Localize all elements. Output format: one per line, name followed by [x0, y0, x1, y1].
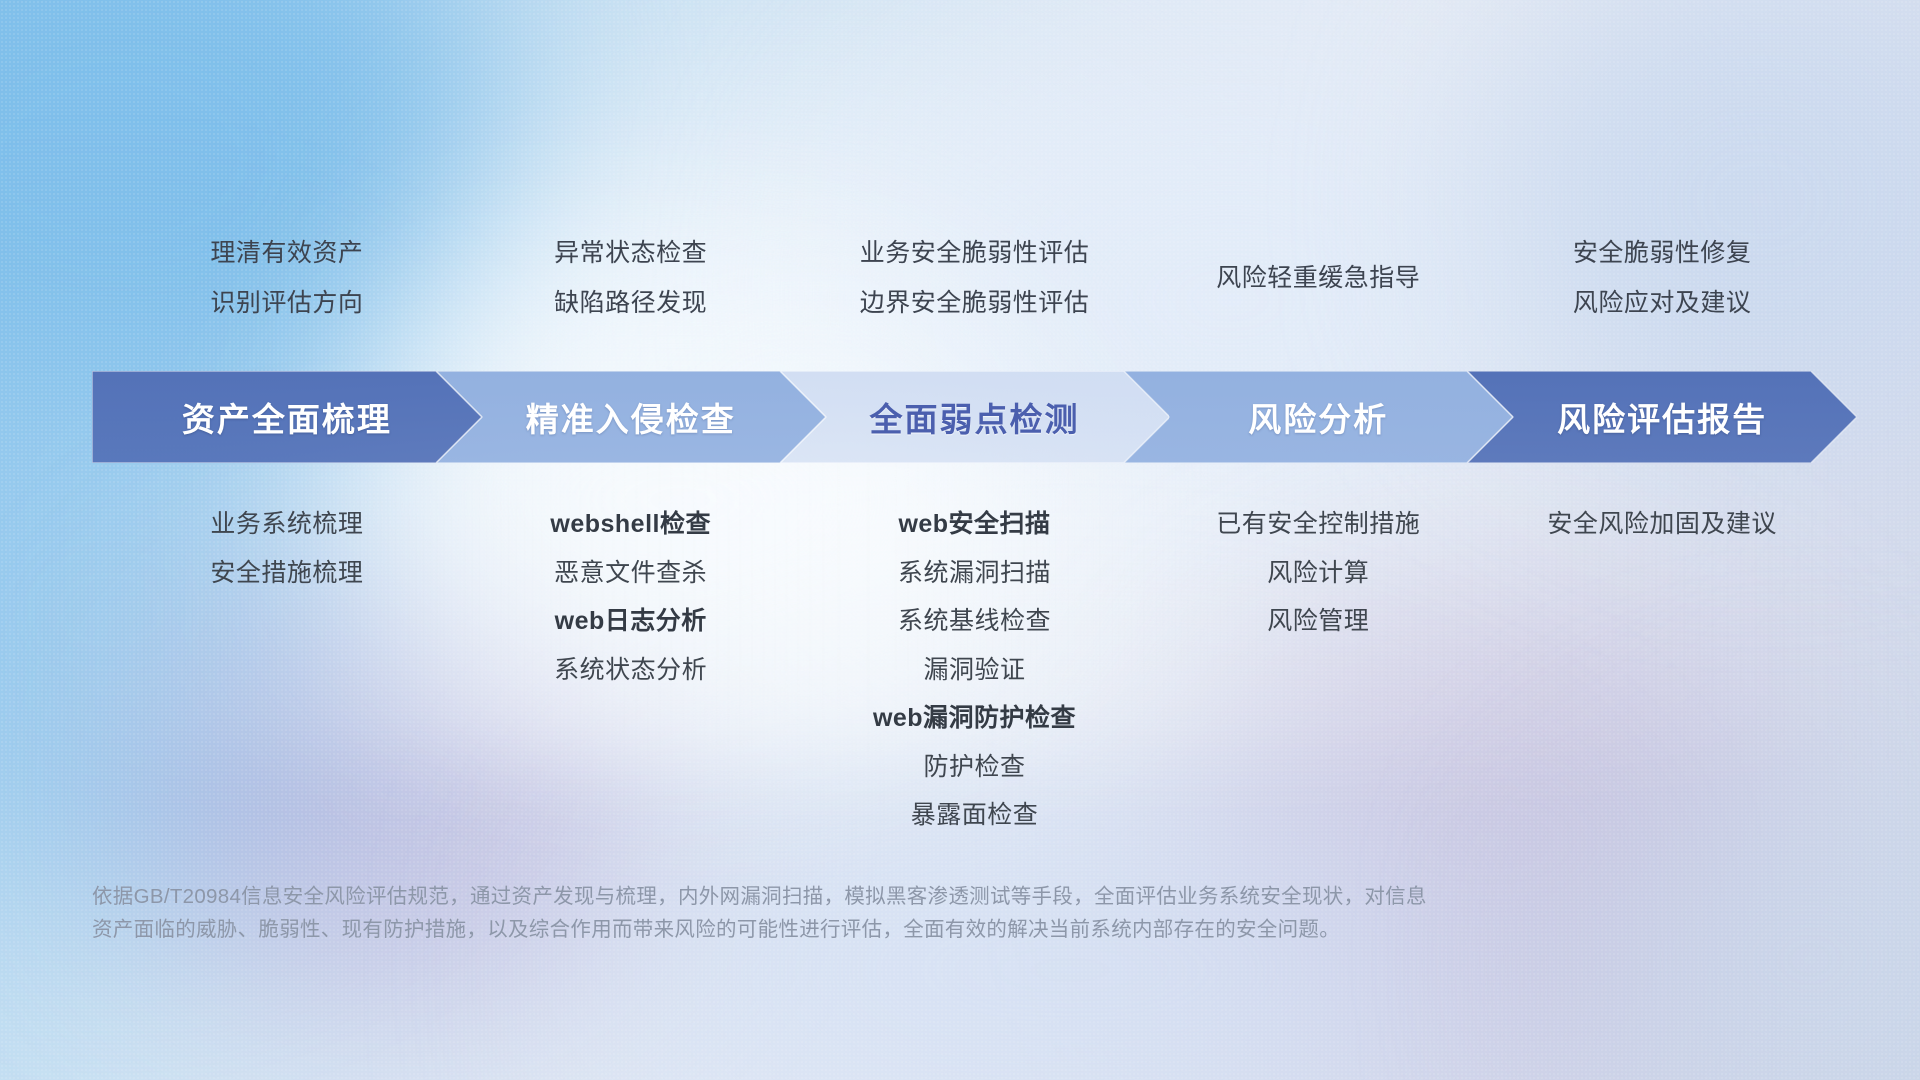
chevron-stage-risk-report[interactable]: 风险评估报告: [1467, 371, 1857, 463]
top-caption: 安全脆弱性修复: [1432, 228, 1892, 278]
chevron-label-asset-inventory: 资产全面梳理: [182, 393, 392, 441]
process-diagram: 理清有效资产识别评估方向异常状态检查缺陷路径发现业务安全脆弱性评估边界安全脆弱性…: [0, 0, 1920, 1080]
bottom-item: 风险管理: [1088, 597, 1548, 646]
chevron-stage-risk-analysis[interactable]: 风险分析: [1123, 371, 1513, 463]
process-chevron-bar: 资产全面梳理精准入侵检查全面弱点检测风险分析风险评估报告: [92, 371, 1857, 463]
top-captions-row: 理清有效资产识别评估方向异常状态检查缺陷路径发现业务安全脆弱性评估边界安全脆弱性…: [0, 228, 1920, 338]
footer-line-2: 资产面临的威胁、脆弱性、现有防护措施，以及综合作用而带来风险的可能性进行评估，全…: [92, 913, 1592, 946]
top-caption: 风险应对及建议: [1432, 278, 1892, 328]
bottom-item: 漏洞验证: [745, 646, 1205, 695]
footer-description: 依据GB/T20984信息安全风险评估规范，通过资产发现与梳理，内外网漏洞扫描，…: [92, 880, 1592, 946]
chevron-stage-weakness-detection[interactable]: 全面弱点检测: [780, 371, 1170, 463]
bottom-items-risk-report: 安全风险加固及建议: [1432, 500, 1892, 549]
chevron-label-risk-analysis: 风险分析: [1248, 393, 1388, 441]
bottom-item: 暴露面检查: [745, 791, 1205, 840]
chevron-stage-intrusion-check[interactable]: 精准入侵检查: [436, 371, 826, 463]
bottom-item: 防护检查: [745, 743, 1205, 792]
bottom-item: 风险计算: [1088, 549, 1548, 598]
footer-line-1: 依据GB/T20984信息安全风险评估规范，通过资产发现与梳理，内外网漏洞扫描，…: [92, 880, 1592, 913]
chevron-label-risk-report: 风险评估报告: [1557, 393, 1767, 441]
bottom-item: web漏洞防护检查: [745, 694, 1205, 743]
chevron-label-weakness-detection: 全面弱点检测: [869, 393, 1079, 441]
bottom-item: 安全风险加固及建议: [1432, 500, 1892, 549]
chevron-stage-asset-inventory[interactable]: 资产全面梳理: [92, 371, 482, 463]
top-captions-risk-report: 安全脆弱性修复风险应对及建议: [1432, 228, 1892, 328]
chevron-label-intrusion-check: 精准入侵检查: [526, 393, 736, 441]
